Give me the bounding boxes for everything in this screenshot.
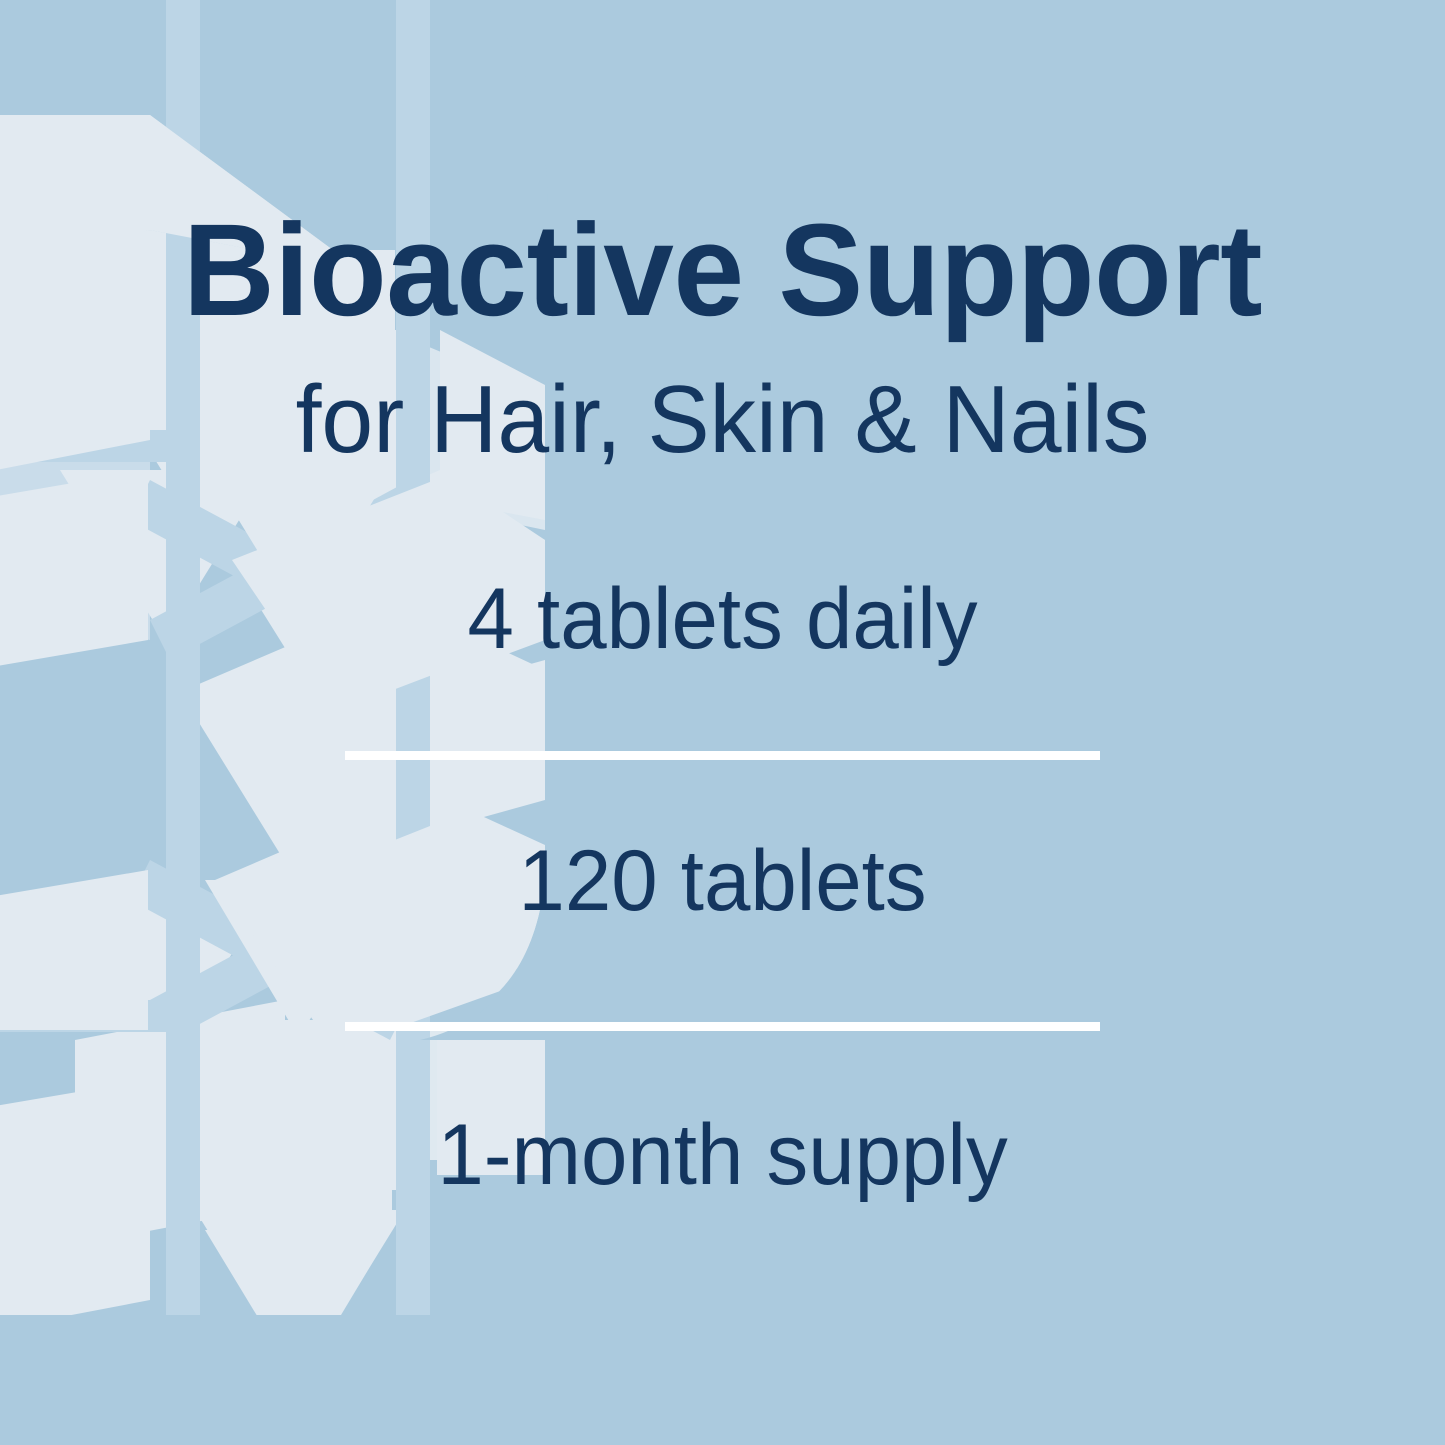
text-content: Bioactive Support for Hair, Skin & Nails…	[0, 0, 1445, 1445]
divider-two	[345, 1022, 1100, 1031]
fact-dosage: 4 tablets daily	[22, 576, 1424, 662]
page-subtitle: for Hair, Skin & Nails	[22, 372, 1424, 468]
fact-supply: 1-month supply	[22, 1112, 1424, 1198]
fact-count: 120 tablets	[22, 838, 1424, 924]
product-feature-graphic: Bioactive Support for Hair, Skin & Nails…	[0, 0, 1445, 1445]
divider-one	[345, 751, 1100, 760]
page-title: Bioactive Support	[22, 204, 1424, 335]
